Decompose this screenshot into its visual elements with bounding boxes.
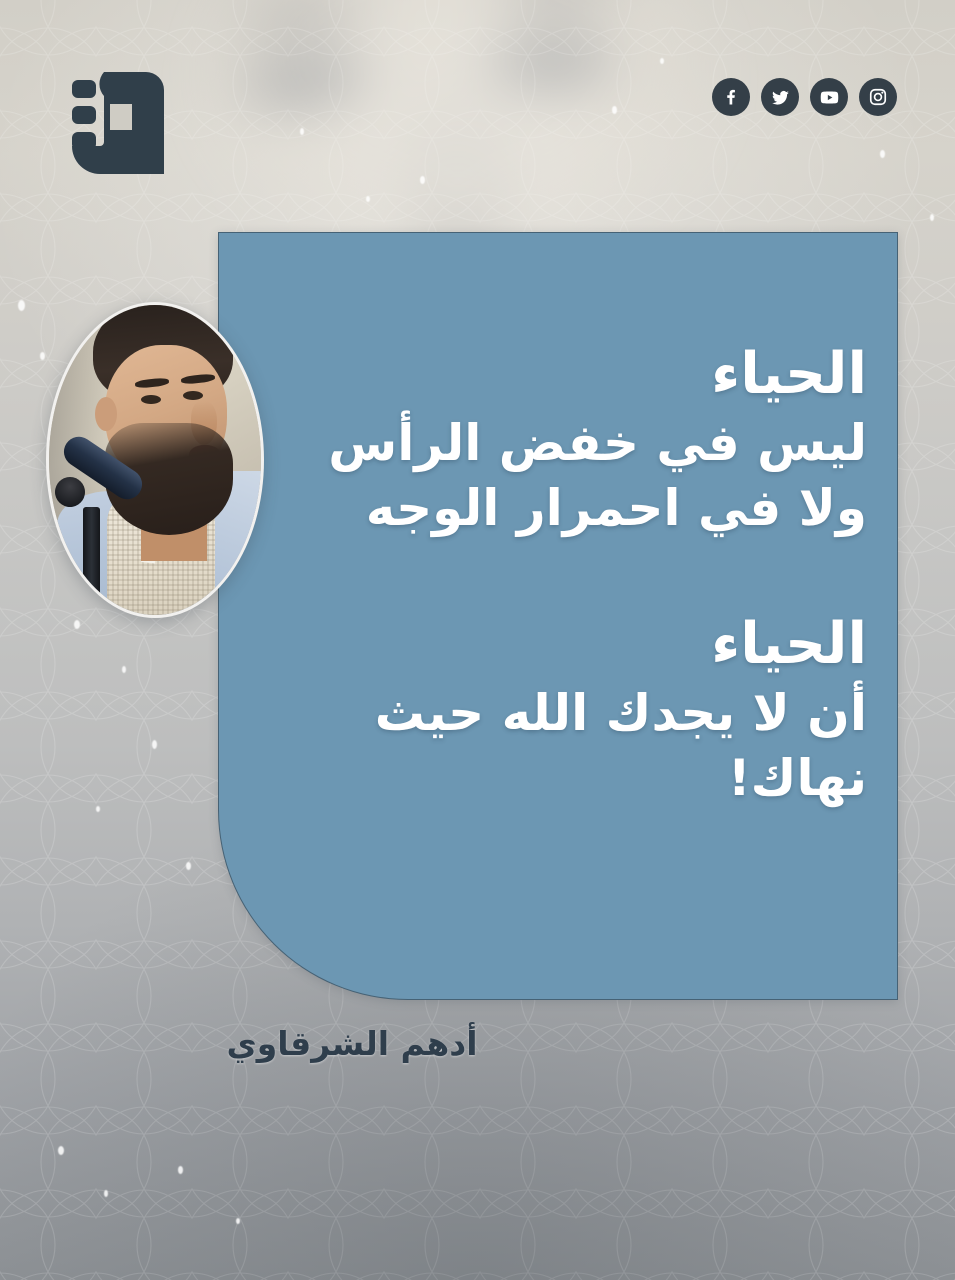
facebook-icon[interactable] bbox=[712, 78, 750, 116]
speaker-portrait bbox=[46, 302, 264, 618]
twitter-icon[interactable] bbox=[761, 78, 799, 116]
quote-paragraph-gap bbox=[267, 541, 867, 607]
quote-block2-line-1: أن لا يجدك الله حيث bbox=[267, 681, 867, 746]
quote-block1-heading: الحياء bbox=[267, 337, 867, 411]
attribution-name: أدهم الشرقاوي bbox=[222, 1024, 482, 1063]
quote-card: الحياء ليس في خفض الرأس ولا في احمرار ال… bbox=[218, 232, 898, 1000]
quote-block1-line-2: ولا في احمرار الوجه bbox=[267, 476, 867, 541]
qaf-logo bbox=[60, 66, 164, 174]
quote-block2-line-2: نهاك! bbox=[267, 746, 867, 811]
quote-block2-heading: الحياء bbox=[267, 607, 867, 681]
instagram-icon[interactable] bbox=[859, 78, 897, 116]
quote-poster: الحياء ليس في خفض الرأس ولا في احمرار ال… bbox=[0, 0, 955, 1280]
youtube-icon[interactable] bbox=[810, 78, 848, 116]
quote-block1-line-1: ليس في خفض الرأس bbox=[267, 411, 867, 476]
social-links[interactable] bbox=[712, 78, 897, 116]
quote-text: الحياء ليس في خفض الرأس ولا في احمرار ال… bbox=[267, 337, 867, 811]
